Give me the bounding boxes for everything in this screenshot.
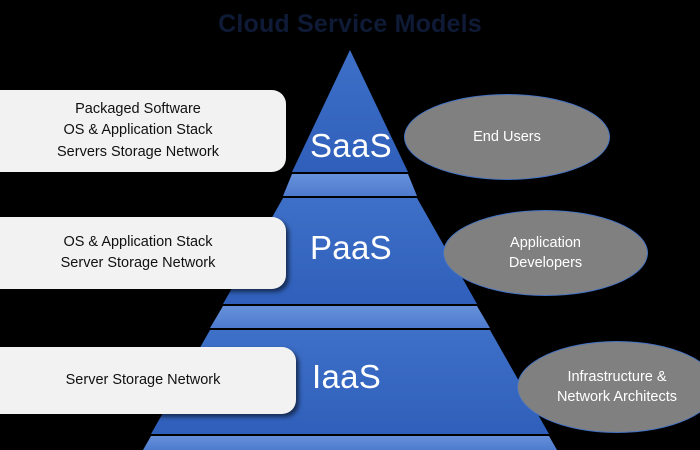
tier-label-iaas: IaaS bbox=[312, 358, 381, 396]
stack-box-saas-line-3: Servers Storage Network bbox=[57, 142, 219, 163]
pyramid-tier-paas-band bbox=[210, 306, 490, 328]
stack-box-iaas: Server Storage Network bbox=[0, 347, 296, 414]
stack-box-saas-line-1: Packaged Software bbox=[75, 99, 201, 120]
cloud-service-models-diagram: Cloud Service Models SaaS PaaS IaaS bbox=[0, 0, 700, 450]
stack-box-paas: OS & Application Stack Server Storage Ne… bbox=[0, 217, 286, 289]
audience-ellipse-application-developers: Application Developers bbox=[443, 210, 648, 296]
audience-app-devs-line-1: Application bbox=[510, 233, 581, 253]
stack-box-iaas-line-1: Server Storage Network bbox=[66, 370, 221, 391]
tier-label-saas: SaaS bbox=[310, 127, 392, 165]
tier-label-paas: PaaS bbox=[310, 229, 392, 267]
pyramid-tier-iaas-band bbox=[143, 436, 557, 450]
audience-infra-arch-line-2: Network Architects bbox=[557, 387, 677, 407]
audience-end-users-line-1: End Users bbox=[473, 127, 541, 147]
audience-ellipse-end-users: End Users bbox=[404, 94, 610, 180]
stack-box-paas-line-2: Server Storage Network bbox=[61, 253, 216, 274]
stack-box-paas-line-1: OS & Application Stack bbox=[63, 232, 212, 253]
audience-app-devs-line-2: Developers bbox=[509, 253, 582, 273]
audience-infra-arch-line-1: Infrastructure & bbox=[567, 367, 666, 387]
stack-box-saas-line-2: OS & Application Stack bbox=[63, 120, 212, 141]
stack-box-saas: Packaged Software OS & Application Stack… bbox=[0, 90, 286, 172]
pyramid-tier-saas-band bbox=[283, 174, 417, 196]
